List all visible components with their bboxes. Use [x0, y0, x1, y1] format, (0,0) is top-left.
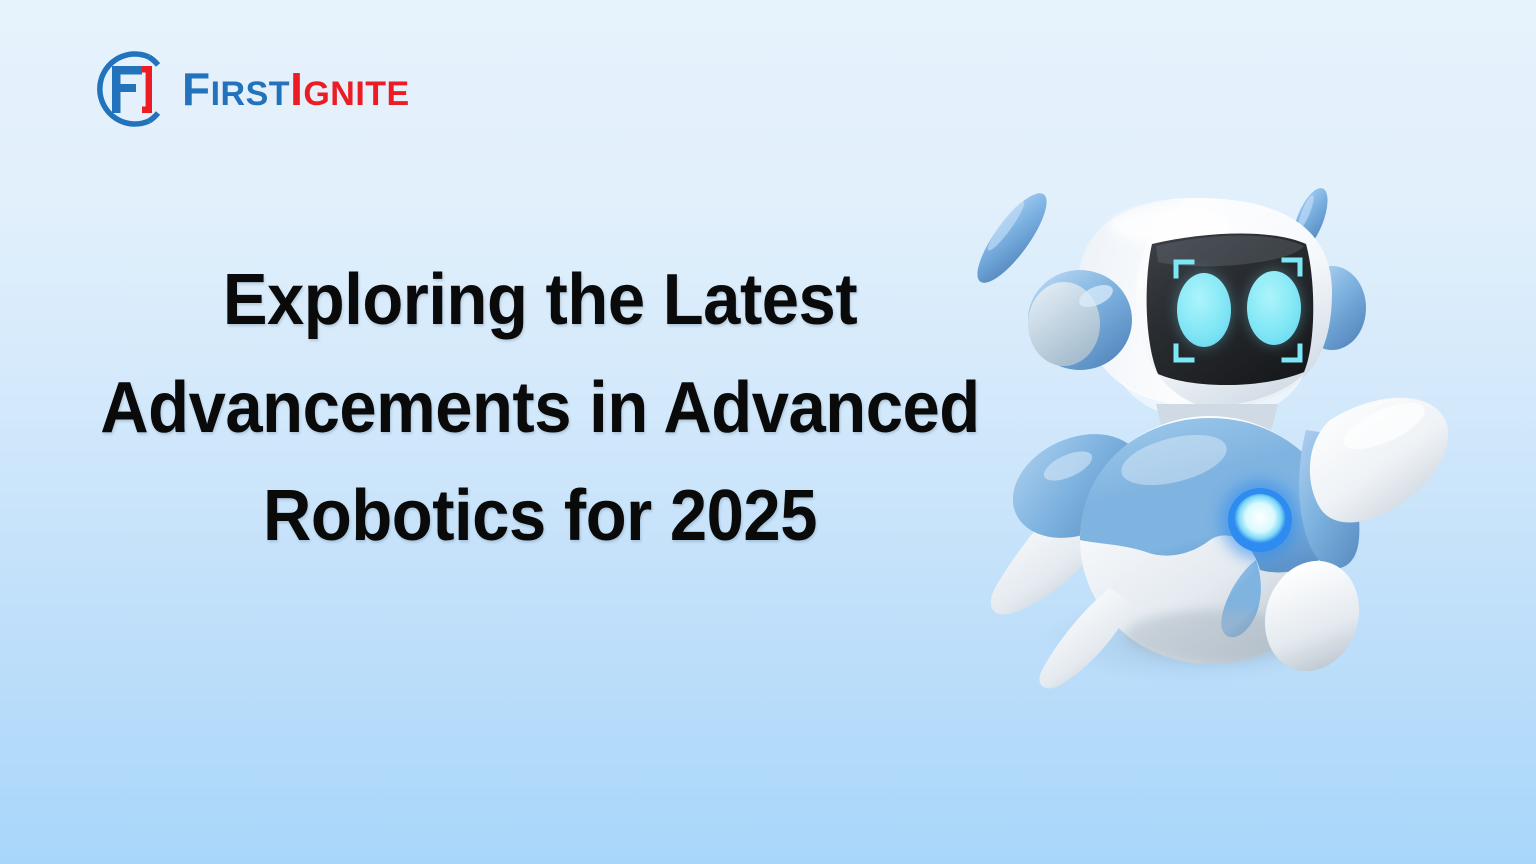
robot-illustration	[960, 168, 1480, 688]
wordmark-ignite-cap: I	[290, 66, 303, 112]
wordmark-first: F IRST	[182, 66, 290, 112]
page-title-line-2: Advancements in Advanced	[75, 354, 1005, 462]
wordmark-first-cap: F	[182, 66, 211, 112]
ear-cup-left-icon	[1028, 270, 1132, 370]
firstignite-wordmark: F IRST I GNITE	[182, 66, 410, 112]
right-arm	[1299, 393, 1448, 568]
page-title-line-1: Exploring the Latest	[75, 246, 1005, 354]
wordmark-ignite: I GNITE	[290, 66, 410, 112]
chest-light-icon	[1220, 480, 1300, 560]
wordmark-first-rest: IRST	[211, 77, 290, 111]
firstignite-emblem-icon	[86, 46, 168, 132]
antenna-icon	[967, 184, 1058, 291]
face-screen	[1147, 234, 1314, 386]
wordmark-ignite-rest: GNITE	[303, 77, 409, 111]
page-title-line-3: Robotics for 2025	[75, 462, 1005, 570]
page-title: Exploring the Latest Advancements in Adv…	[75, 246, 1005, 570]
firstignite-logo[interactable]: F IRST I GNITE	[86, 46, 410, 132]
